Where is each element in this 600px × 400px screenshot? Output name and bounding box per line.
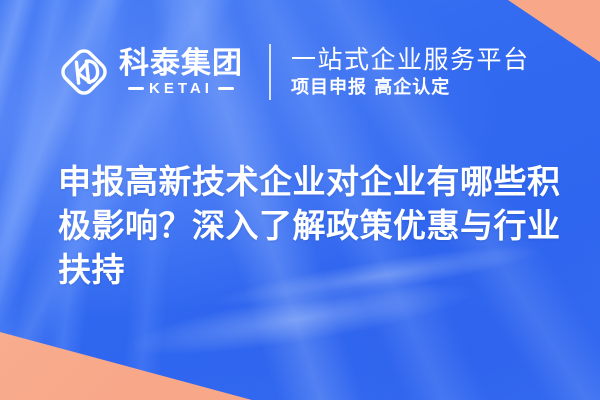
brand-wordmark: 科泰集团 KETAI [119, 48, 243, 96]
brand-name-en: KETAI [149, 81, 213, 96]
wordmark-rule-right-icon [218, 87, 234, 90]
tagline-secondary: 项目申报 高企认定 [291, 77, 530, 99]
brand-logo-lockup[interactable]: 科泰集团 KETAI [58, 46, 243, 98]
banner-headline: 申报高新技术企业对企业有哪些积极影响？深入了解政策优惠与行业扶持 [58, 160, 570, 292]
brand-name-cn: 科泰集团 [119, 48, 243, 80]
ketai-diamond-kd-logo-icon [58, 46, 110, 98]
brand-name-en-row: KETAI [119, 81, 243, 96]
wordmark-rule-left-icon [128, 87, 144, 90]
banner-header: 科泰集团 KETAI 一站式企业服务平台 项目申报 高企认定 [58, 44, 530, 100]
tagline-primary: 一站式企业服务平台 [291, 45, 530, 74]
tagline-block: 一站式企业服务平台 项目申报 高企认定 [291, 45, 530, 99]
header-divider [269, 44, 271, 100]
promo-banner: 科泰集团 KETAI 一站式企业服务平台 项目申报 高企认定 申报高新技术企业对… [0, 0, 600, 400]
